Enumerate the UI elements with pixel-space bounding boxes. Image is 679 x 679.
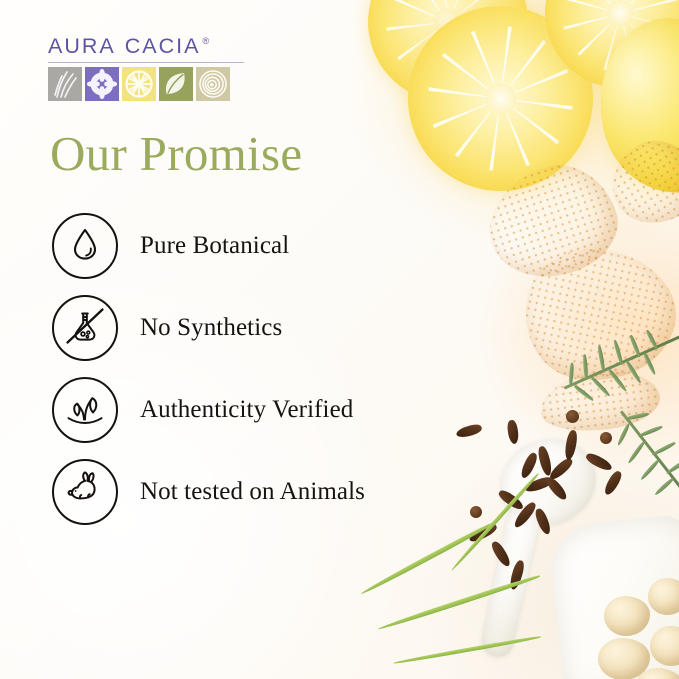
clove-icon: [508, 559, 526, 591]
promise-badge: [52, 459, 118, 525]
droplet-icon: [65, 224, 105, 269]
clove-icon: [519, 451, 539, 480]
grass-blade-icon: [450, 472, 540, 571]
orange-peel-icon: [597, 125, 679, 240]
frankincense-resin-icon: [598, 638, 650, 679]
promise-label: Not tested on Animals: [140, 478, 365, 506]
promise-badge: [52, 377, 118, 443]
orange-peel-icon: [513, 236, 679, 396]
rabbit-icon: [62, 467, 108, 518]
list-item: Not tested on Animals: [52, 451, 442, 533]
whole-lemon-icon: [583, 5, 679, 206]
frankincense-resin-icon: [604, 596, 650, 636]
promise-label: Pure Botanical: [140, 232, 289, 260]
lemon-slice-icon: [529, 0, 679, 104]
frankincense-resin-icon: [648, 578, 679, 615]
clove-icon: [470, 506, 482, 518]
clove-icon: [497, 488, 526, 512]
white-spoon-icon: [479, 506, 541, 659]
frankincense-resin-icon: [636, 668, 679, 679]
rosemary-sprig-icon: [539, 279, 679, 451]
clove-icon: [455, 423, 483, 440]
clove-icon: [512, 500, 538, 530]
promise-graphic: AURA CACIA ®: [0, 0, 679, 679]
sprout-icon: [62, 385, 108, 436]
orange-peel-icon: [474, 151, 629, 293]
clove-icon: [545, 476, 569, 502]
no-flask-icon: [63, 304, 107, 353]
clove-icon: [602, 469, 624, 497]
clove-icon: [566, 410, 579, 423]
clove-icon: [600, 432, 612, 444]
promise-list: Pure Botanical: [52, 205, 442, 533]
page-title: Our Promise: [50, 129, 302, 178]
citrus-slice-tile: [122, 67, 156, 101]
rosemary-sprig-icon: [572, 376, 679, 544]
clove-icon: [547, 456, 574, 482]
clove-icon: [467, 522, 498, 545]
clove-icon: [524, 475, 555, 494]
leaf-tile: [159, 67, 193, 101]
flower-tile: [85, 67, 119, 101]
promise-panel: AURA CACIA ®: [0, 0, 440, 679]
white-spoon-icon: [489, 426, 608, 538]
logo-tile-row: [48, 67, 244, 101]
clove-icon: [584, 451, 613, 473]
promise-label: No Synthetics: [140, 314, 282, 342]
promise-badge: [52, 213, 118, 279]
promise-label: Authenticity Verified: [140, 396, 353, 424]
logo-divider: [48, 62, 244, 63]
list-item: Authenticity Verified: [52, 369, 442, 451]
brand-word-two: CACIA: [125, 36, 201, 58]
registered-trademark-icon: ®: [202, 37, 211, 46]
frankincense-resin-icon: [650, 626, 679, 666]
promise-badge: [52, 295, 118, 361]
clove-icon: [506, 419, 519, 444]
brand-word-one: AURA: [48, 36, 116, 58]
grass-roots-tile: [48, 67, 82, 101]
orange-peel-icon: [537, 365, 663, 437]
brand-logo[interactable]: AURA CACIA ®: [48, 36, 244, 101]
clove-icon: [563, 429, 578, 460]
brand-wordmark: AURA CACIA ®: [48, 36, 244, 58]
list-item: No Synthetics: [52, 287, 442, 369]
list-item: Pure Botanical: [52, 205, 442, 287]
clove-icon: [533, 507, 552, 536]
cloth-bag-icon: [547, 513, 679, 679]
clove-icon: [537, 445, 554, 477]
tree-rings-tile: [196, 67, 230, 101]
clove-icon: [489, 539, 512, 568]
